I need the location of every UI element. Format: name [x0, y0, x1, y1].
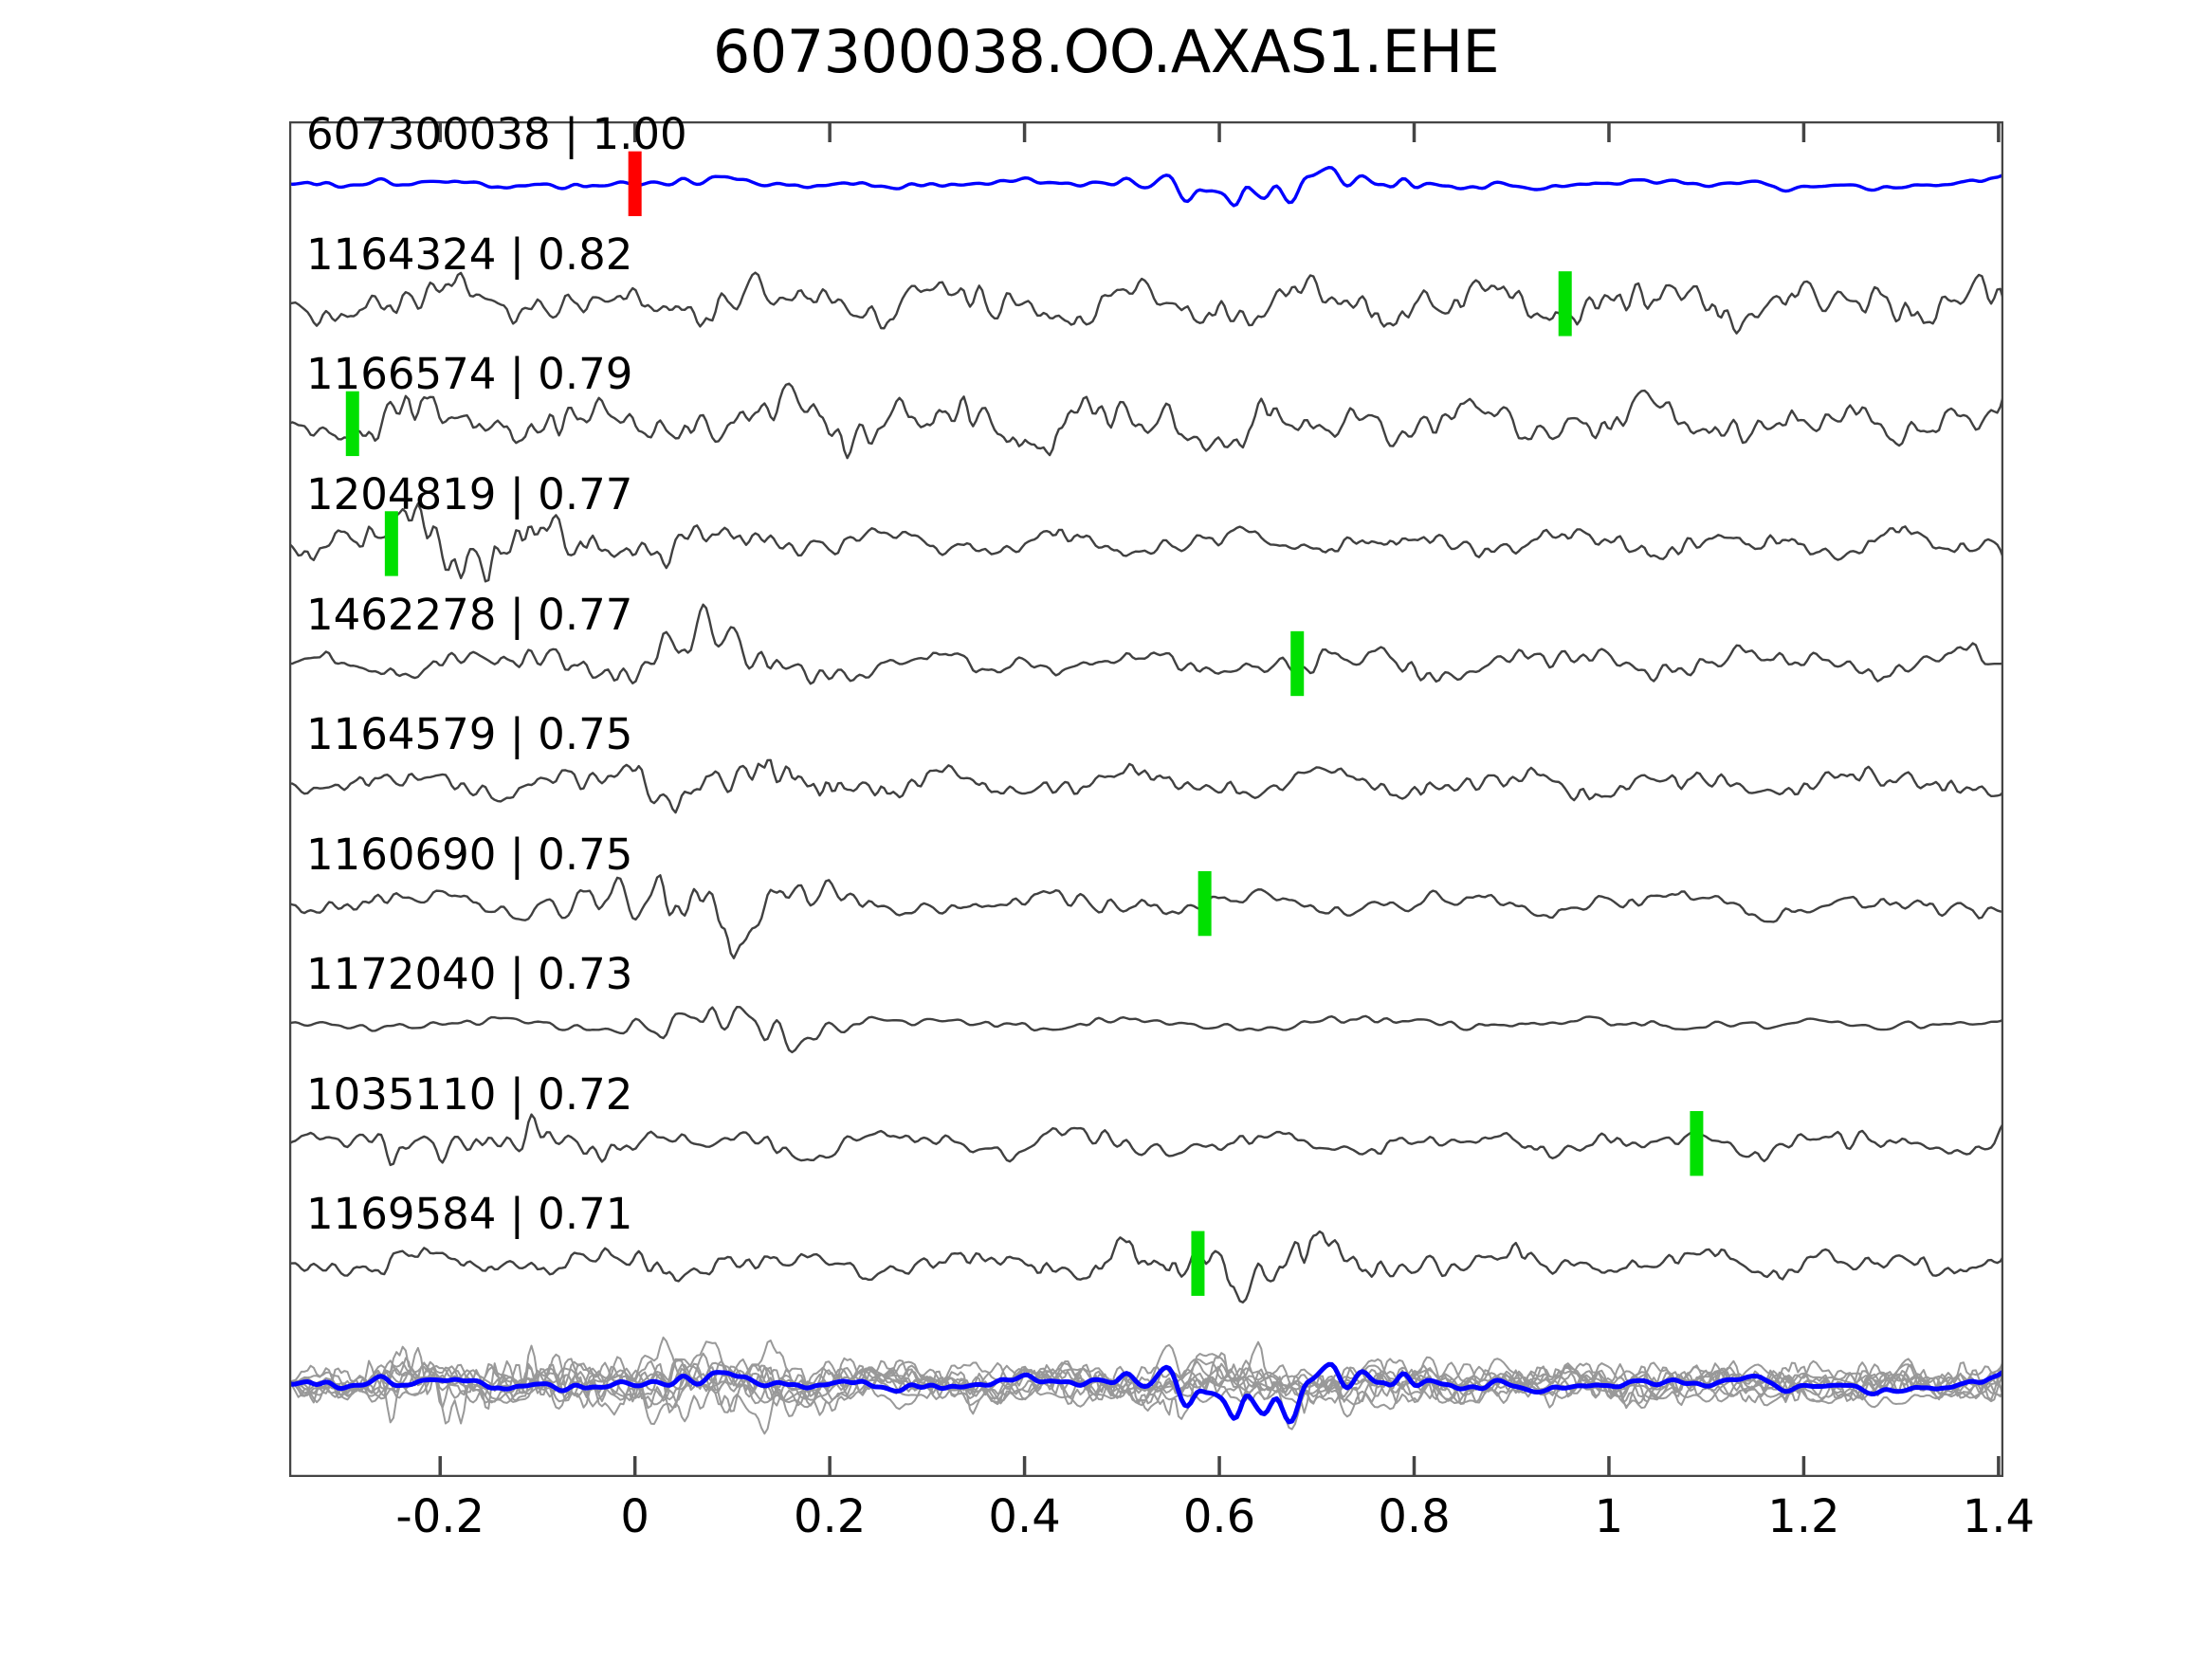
trace-1160690	[289, 875, 2003, 957]
x-tick-label-2: 0.2	[794, 1490, 866, 1543]
trace-label-1169584: 1169584 | 0.71	[306, 1189, 632, 1239]
trace-1164324	[289, 273, 2003, 334]
trace-1035110	[289, 1115, 2003, 1165]
trace-label-1462278: 1462278 | 0.77	[306, 590, 632, 640]
pick-marker-1164324	[1559, 271, 1572, 336]
x-axis-tick-labels: -0.200.20.40.60.811.21.4	[289, 1490, 2003, 1566]
x-tick-label-8: 1.4	[1963, 1490, 2035, 1543]
waveform-plot	[289, 121, 2003, 1477]
trace-label-1160690: 1160690 | 0.75	[306, 829, 632, 880]
x-tick-label-6: 1	[1595, 1490, 1624, 1543]
pick-marker-1462278	[1290, 631, 1304, 696]
trace-label-1172040: 1172040 | 0.73	[306, 949, 632, 999]
trace-label-1164579: 1164579 | 0.75	[306, 709, 632, 759]
axes-frame	[290, 122, 2003, 1477]
x-tick-label-3: 0.4	[988, 1490, 1060, 1543]
x-tick-label-7: 1.2	[1767, 1490, 1839, 1543]
pick-marker-1204819	[385, 511, 398, 575]
figure-root: 607300038.OO.AXAS1.EHE 607300038 | 1.001…	[0, 0, 2212, 1659]
plot-area: 607300038 | 1.001164324 | 0.821166574 | …	[289, 121, 2003, 1477]
x-tick-label-4: 0.6	[1183, 1490, 1255, 1543]
x-tick-label-1: 0	[620, 1490, 649, 1543]
trace-1169584	[289, 1231, 2003, 1303]
page-title: 607300038.OO.AXAS1.EHE	[0, 17, 2212, 86]
x-tick-label-0: -0.2	[395, 1490, 484, 1543]
x-tick-label-5: 0.8	[1378, 1490, 1450, 1543]
trace-label-607300038: 607300038 | 1.00	[306, 109, 687, 159]
trace-label-1204819: 1204819 | 0.77	[306, 469, 632, 520]
pick-marker-607300038	[629, 152, 642, 216]
trace-1172040	[289, 1007, 2003, 1052]
trace-1164579	[289, 760, 2003, 812]
trace-label-1035110: 1035110 | 0.72	[306, 1069, 632, 1120]
trace-label-1166574: 1166574 | 0.79	[306, 349, 632, 399]
pick-marker-1035110	[1690, 1111, 1703, 1176]
pick-marker-1166574	[346, 392, 359, 456]
pick-marker-1160690	[1198, 871, 1212, 936]
trace-607300038	[289, 168, 2003, 206]
pick-marker-1169584	[1191, 1231, 1204, 1296]
trace-label-1164324: 1164324 | 0.82	[306, 229, 632, 280]
